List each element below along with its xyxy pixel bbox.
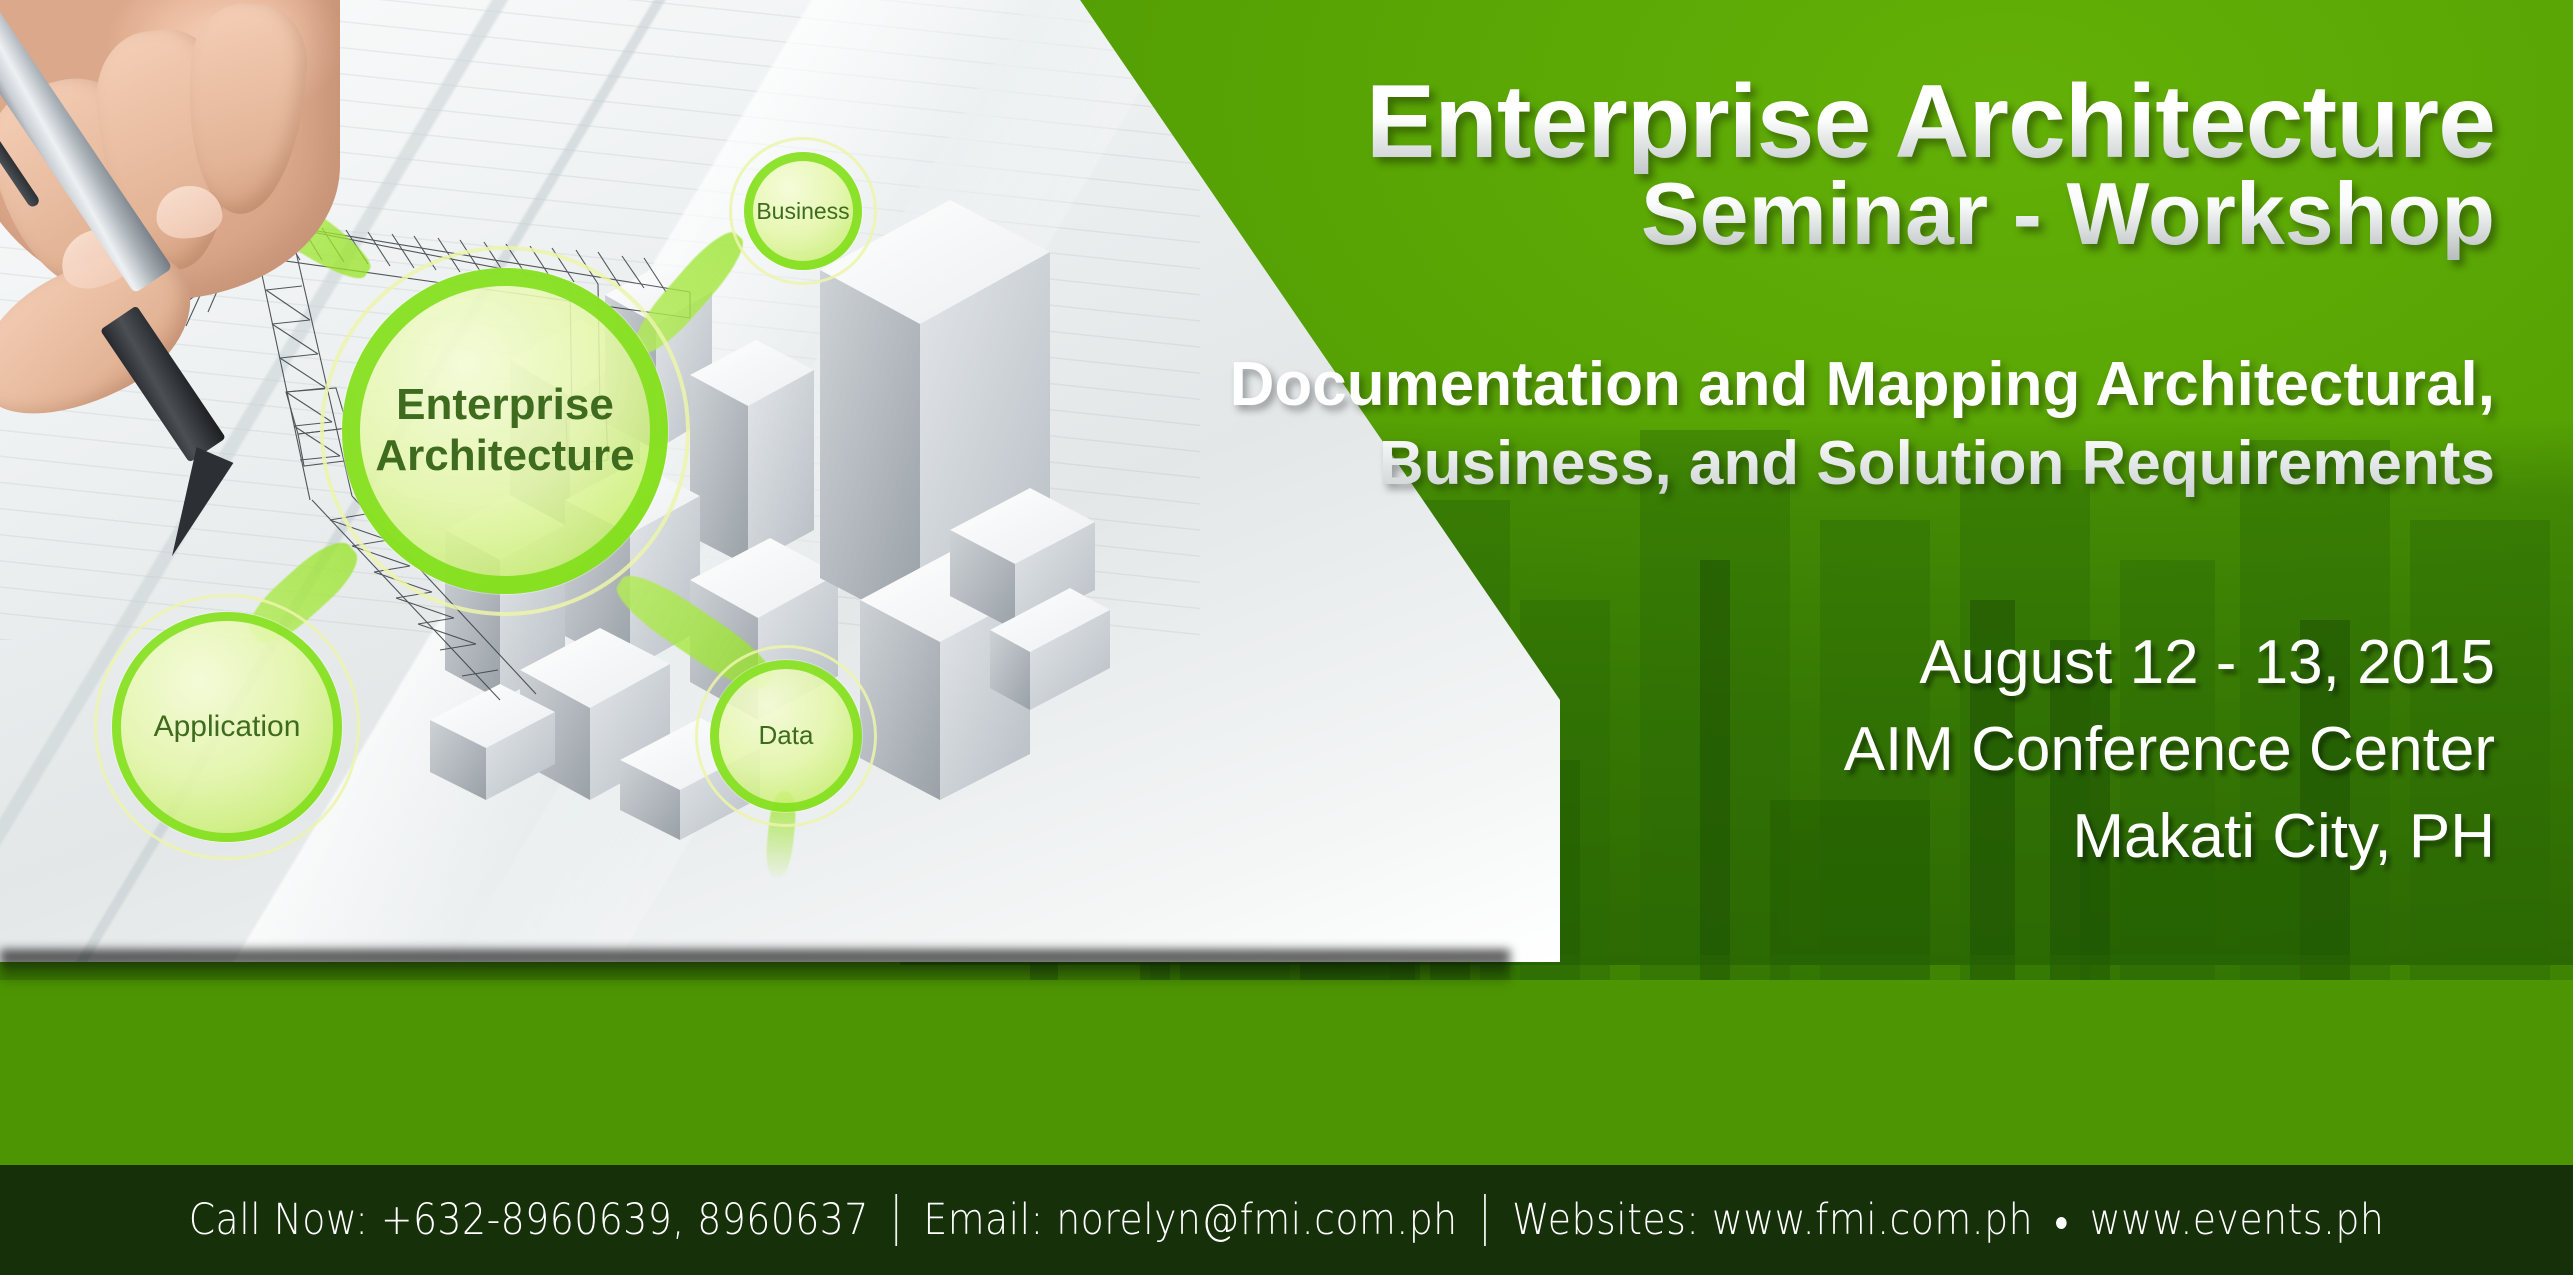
website-link-2[interactable]: www.events.ph	[2090, 1195, 2385, 1245]
page-title: Enterprise Architecture	[1195, 70, 2495, 174]
event-description-line2: Business, and Solution Requirements	[1095, 424, 2495, 503]
email-label: Email:	[923, 1195, 1043, 1245]
bubble-data-label: Data	[759, 721, 814, 751]
websites-segment: Websites: www.fmi.com.ph www.events.ph	[1512, 1195, 2384, 1245]
event-description-line1: Documentation and Mapping Architectural,	[1095, 345, 2495, 424]
bubble-data[interactable]: Data	[710, 660, 862, 812]
footer-divider	[1484, 1194, 1486, 1246]
bubble-core-label-line1: Enterprise	[396, 380, 614, 429]
websites-label: Websites:	[1512, 1195, 1699, 1245]
bubble-enterprise-architecture[interactable]: Enterprise Architecture	[342, 268, 668, 594]
page-subtitle-type: Seminar - Workshop	[1195, 168, 2495, 260]
bubble-business-label: Business	[756, 198, 849, 224]
footer-divider	[895, 1194, 897, 1246]
website-link-1[interactable]: www.fmi.com.ph	[1712, 1195, 2033, 1245]
phone-numbers[interactable]: +632-8960639, 8960637	[381, 1195, 869, 1245]
bubble-core-label-line2: Architecture	[375, 431, 634, 480]
bubble-application-label: Application	[154, 710, 301, 745]
event-details-block: August 12 - 13, 2015 AIM Conference Cent…	[1395, 620, 2495, 880]
bubble-business[interactable]: Business	[744, 152, 862, 270]
panel-drop-shadow	[0, 950, 1510, 986]
phone-segment: Call Now: +632-8960639, 8960637	[189, 1195, 869, 1245]
headline-block: Enterprise Architecture Seminar - Worksh…	[1195, 70, 2495, 260]
bubble-core-label: Enterprise Architecture	[375, 380, 634, 481]
event-location: Makati City, PH	[1395, 794, 2495, 881]
email-address[interactable]: norelyn@fmi.com.ph	[1056, 1195, 1457, 1245]
email-segment: Email: norelyn@fmi.com.ph	[923, 1195, 1457, 1245]
call-now-label: Call Now:	[189, 1195, 369, 1245]
bubble-application[interactable]: Application	[112, 612, 342, 842]
event-description: Documentation and Mapping Architectural,…	[1095, 345, 2495, 504]
contact-footer-bar: Call Now: +632-8960639, 8960637 Email: n…	[0, 1165, 2573, 1275]
event-banner: Technology Business Enterprise Architect…	[0, 0, 2573, 1275]
bullet-separator-icon	[2056, 1217, 2067, 1229]
event-date: August 12 - 13, 2015	[1395, 620, 2495, 707]
event-venue: AIM Conference Center	[1395, 707, 2495, 794]
